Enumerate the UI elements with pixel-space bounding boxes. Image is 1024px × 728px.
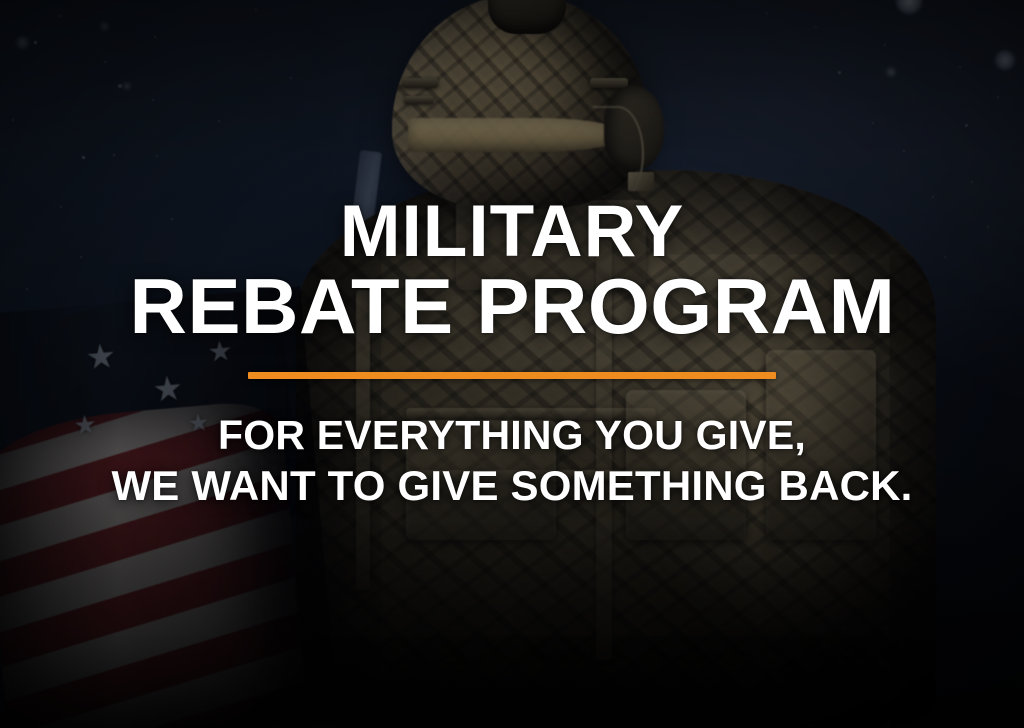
subtitle-line-2: WE WANT TO GIVE SOMETHING BACK. (111, 460, 912, 511)
page-title: MILITARY REBATE PROGRAM (137, 196, 888, 344)
subtitle-line-1: FOR EVERYTHING YOU GIVE, (111, 410, 912, 460)
banner-content: MILITARY REBATE PROGRAM FOR EVERYTHING Y… (0, 0, 1024, 728)
headline-line-1: MILITARY (137, 196, 888, 268)
military-rebate-program-hero-banner: ★ ★ ★ ★ ★ MILITARY REBATE PROGRAM FOR EV… (0, 0, 1024, 728)
headline-line-2: REBATE PROGRAM (129, 268, 895, 344)
subtitle: FOR EVERYTHING YOU GIVE, WE WANT TO GIVE… (111, 410, 912, 511)
orange-divider-rule (248, 372, 776, 379)
